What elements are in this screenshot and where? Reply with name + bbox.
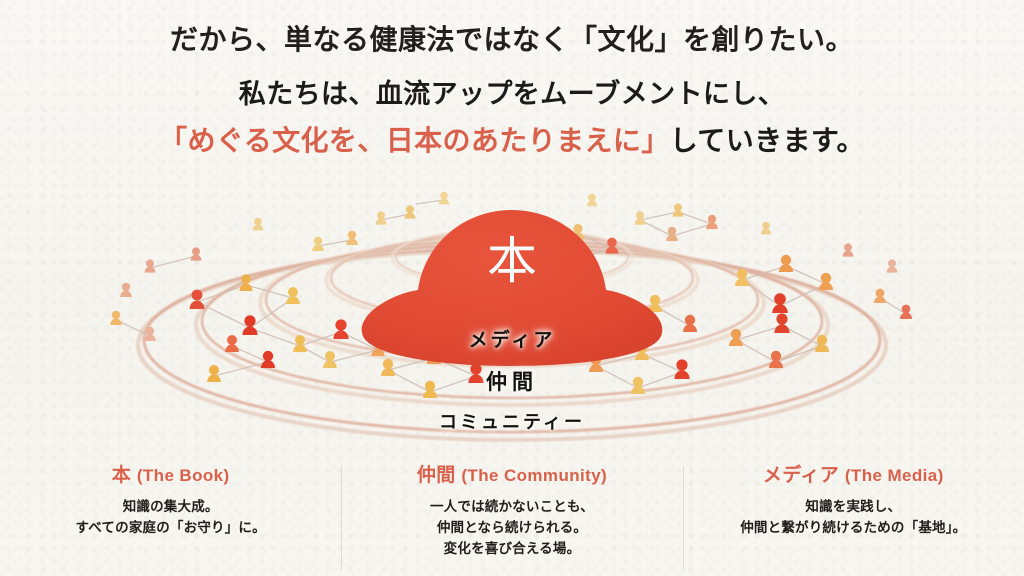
center-dome-shape: [362, 210, 663, 366]
pillar-column-community: 仲間 (The Community) 一人では続かないことも、 仲間となら続けら…: [341, 460, 682, 572]
pillar-body-book: 知識の集大成。 すべての家庭の「お守り」に。: [76, 496, 266, 538]
headline-block: だから、単なる健康法ではなく「文化」を創りたい。 私たちは、血流アップをムーブメ…: [0, 22, 1024, 160]
pillar-body-media: 知識を実践し、 仲間と繋がり続けるための「基地」。: [740, 496, 966, 538]
pillar-title-book: 本 (The Book): [112, 460, 230, 487]
pillar-body-line: 変化を喜び合える場。: [430, 538, 594, 559]
pillar-title-community: 仲間 (The Community): [417, 460, 607, 487]
headline-accent-phrase: 「めぐる文化を、日本のあたりまえに」: [159, 125, 670, 156]
pillars-columns: 本 (The Book) 知識の集大成。 すべての家庭の「お守り」に。 仲間 (…: [0, 460, 1024, 572]
pillar-column-book: 本 (The Book) 知識の集大成。 すべての家庭の「お守り」に。: [0, 460, 341, 572]
pillar-title-jp-media: メディア: [763, 465, 839, 486]
pillar-body-line: 知識の集大成。: [76, 496, 266, 517]
headline-line-1: だから、単なる健康法ではなく「文化」を創りたい。: [0, 22, 1024, 60]
pillar-body-line: すべての家庭の「お守り」に。: [76, 517, 266, 538]
concentric-network-diagram: [0, 180, 1024, 455]
pillar-body-line: 仲間となら続けられる。: [430, 517, 594, 538]
pillar-title-jp-community: 仲間: [417, 465, 456, 486]
headline-line-2: 私たちは、血流アップをムーブメントにし、: [0, 76, 1024, 114]
pillar-column-media: メディア (The Media) 知識を実践し、 仲間と繋がり続けるための「基地…: [683, 460, 1024, 572]
pillar-title-jp-book: 本: [112, 465, 131, 486]
pillar-body-line: 知識を実践し、: [740, 496, 966, 517]
pillar-body-line: 仲間と繋がり続けるための「基地」。: [740, 517, 966, 538]
pillar-body-community: 一人では続かないことも、 仲間となら続けられる。 変化を喜び合える場。: [430, 496, 594, 559]
headline-line-3-tail: していきます。: [670, 125, 865, 156]
pillar-title-en-community: (The Community): [461, 466, 607, 485]
pillar-body-line: 一人では続かないことも、: [430, 496, 594, 517]
headline-line-3: 「めぐる文化を、日本のあたりまえに」していきます。: [0, 121, 1024, 160]
pillar-title-en-book: (The Book): [137, 466, 230, 485]
pillar-title-en-media: (The Media): [845, 466, 944, 485]
pillar-title-media: メディア (The Media): [763, 460, 944, 487]
